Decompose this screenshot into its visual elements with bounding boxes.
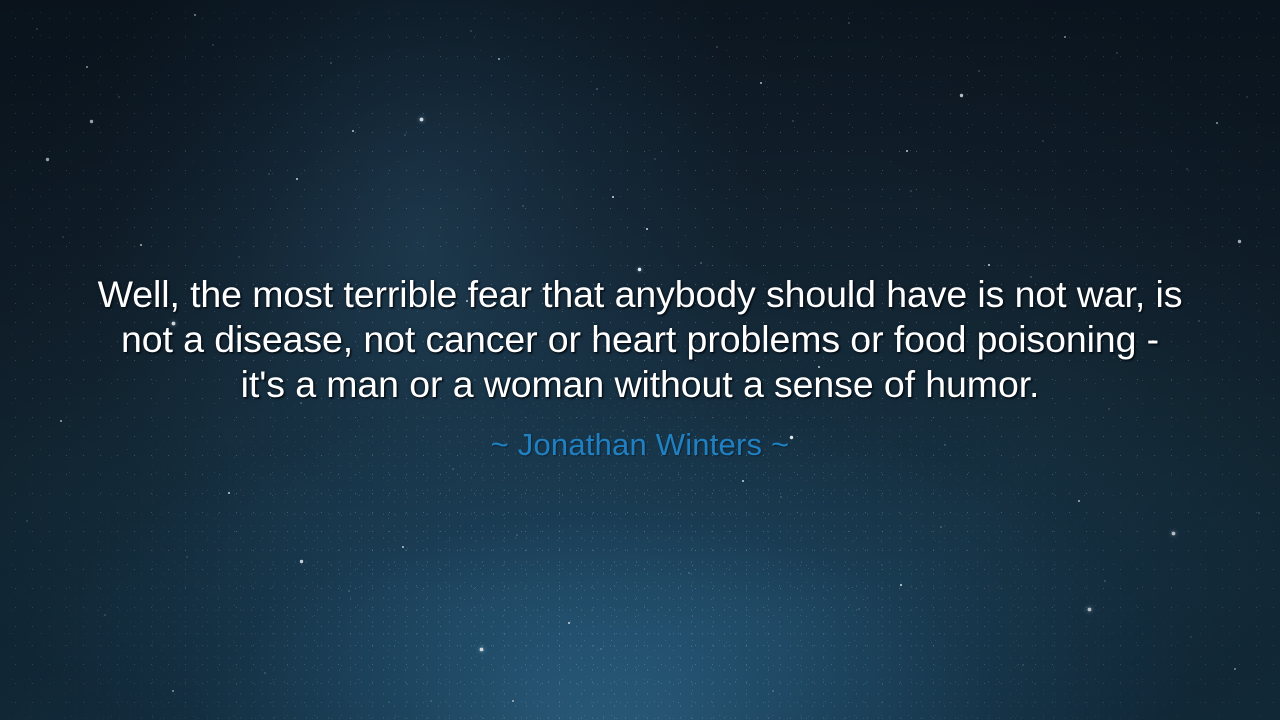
quote-content: Well, the most terrible fear that anybod… bbox=[0, 0, 1280, 720]
quote-text: Well, the most terrible fear that anybod… bbox=[95, 272, 1185, 407]
quote-author: ~ Jonathan Winters ~ bbox=[491, 427, 790, 463]
quote-card: Well, the most terrible fear that anybod… bbox=[0, 0, 1280, 720]
